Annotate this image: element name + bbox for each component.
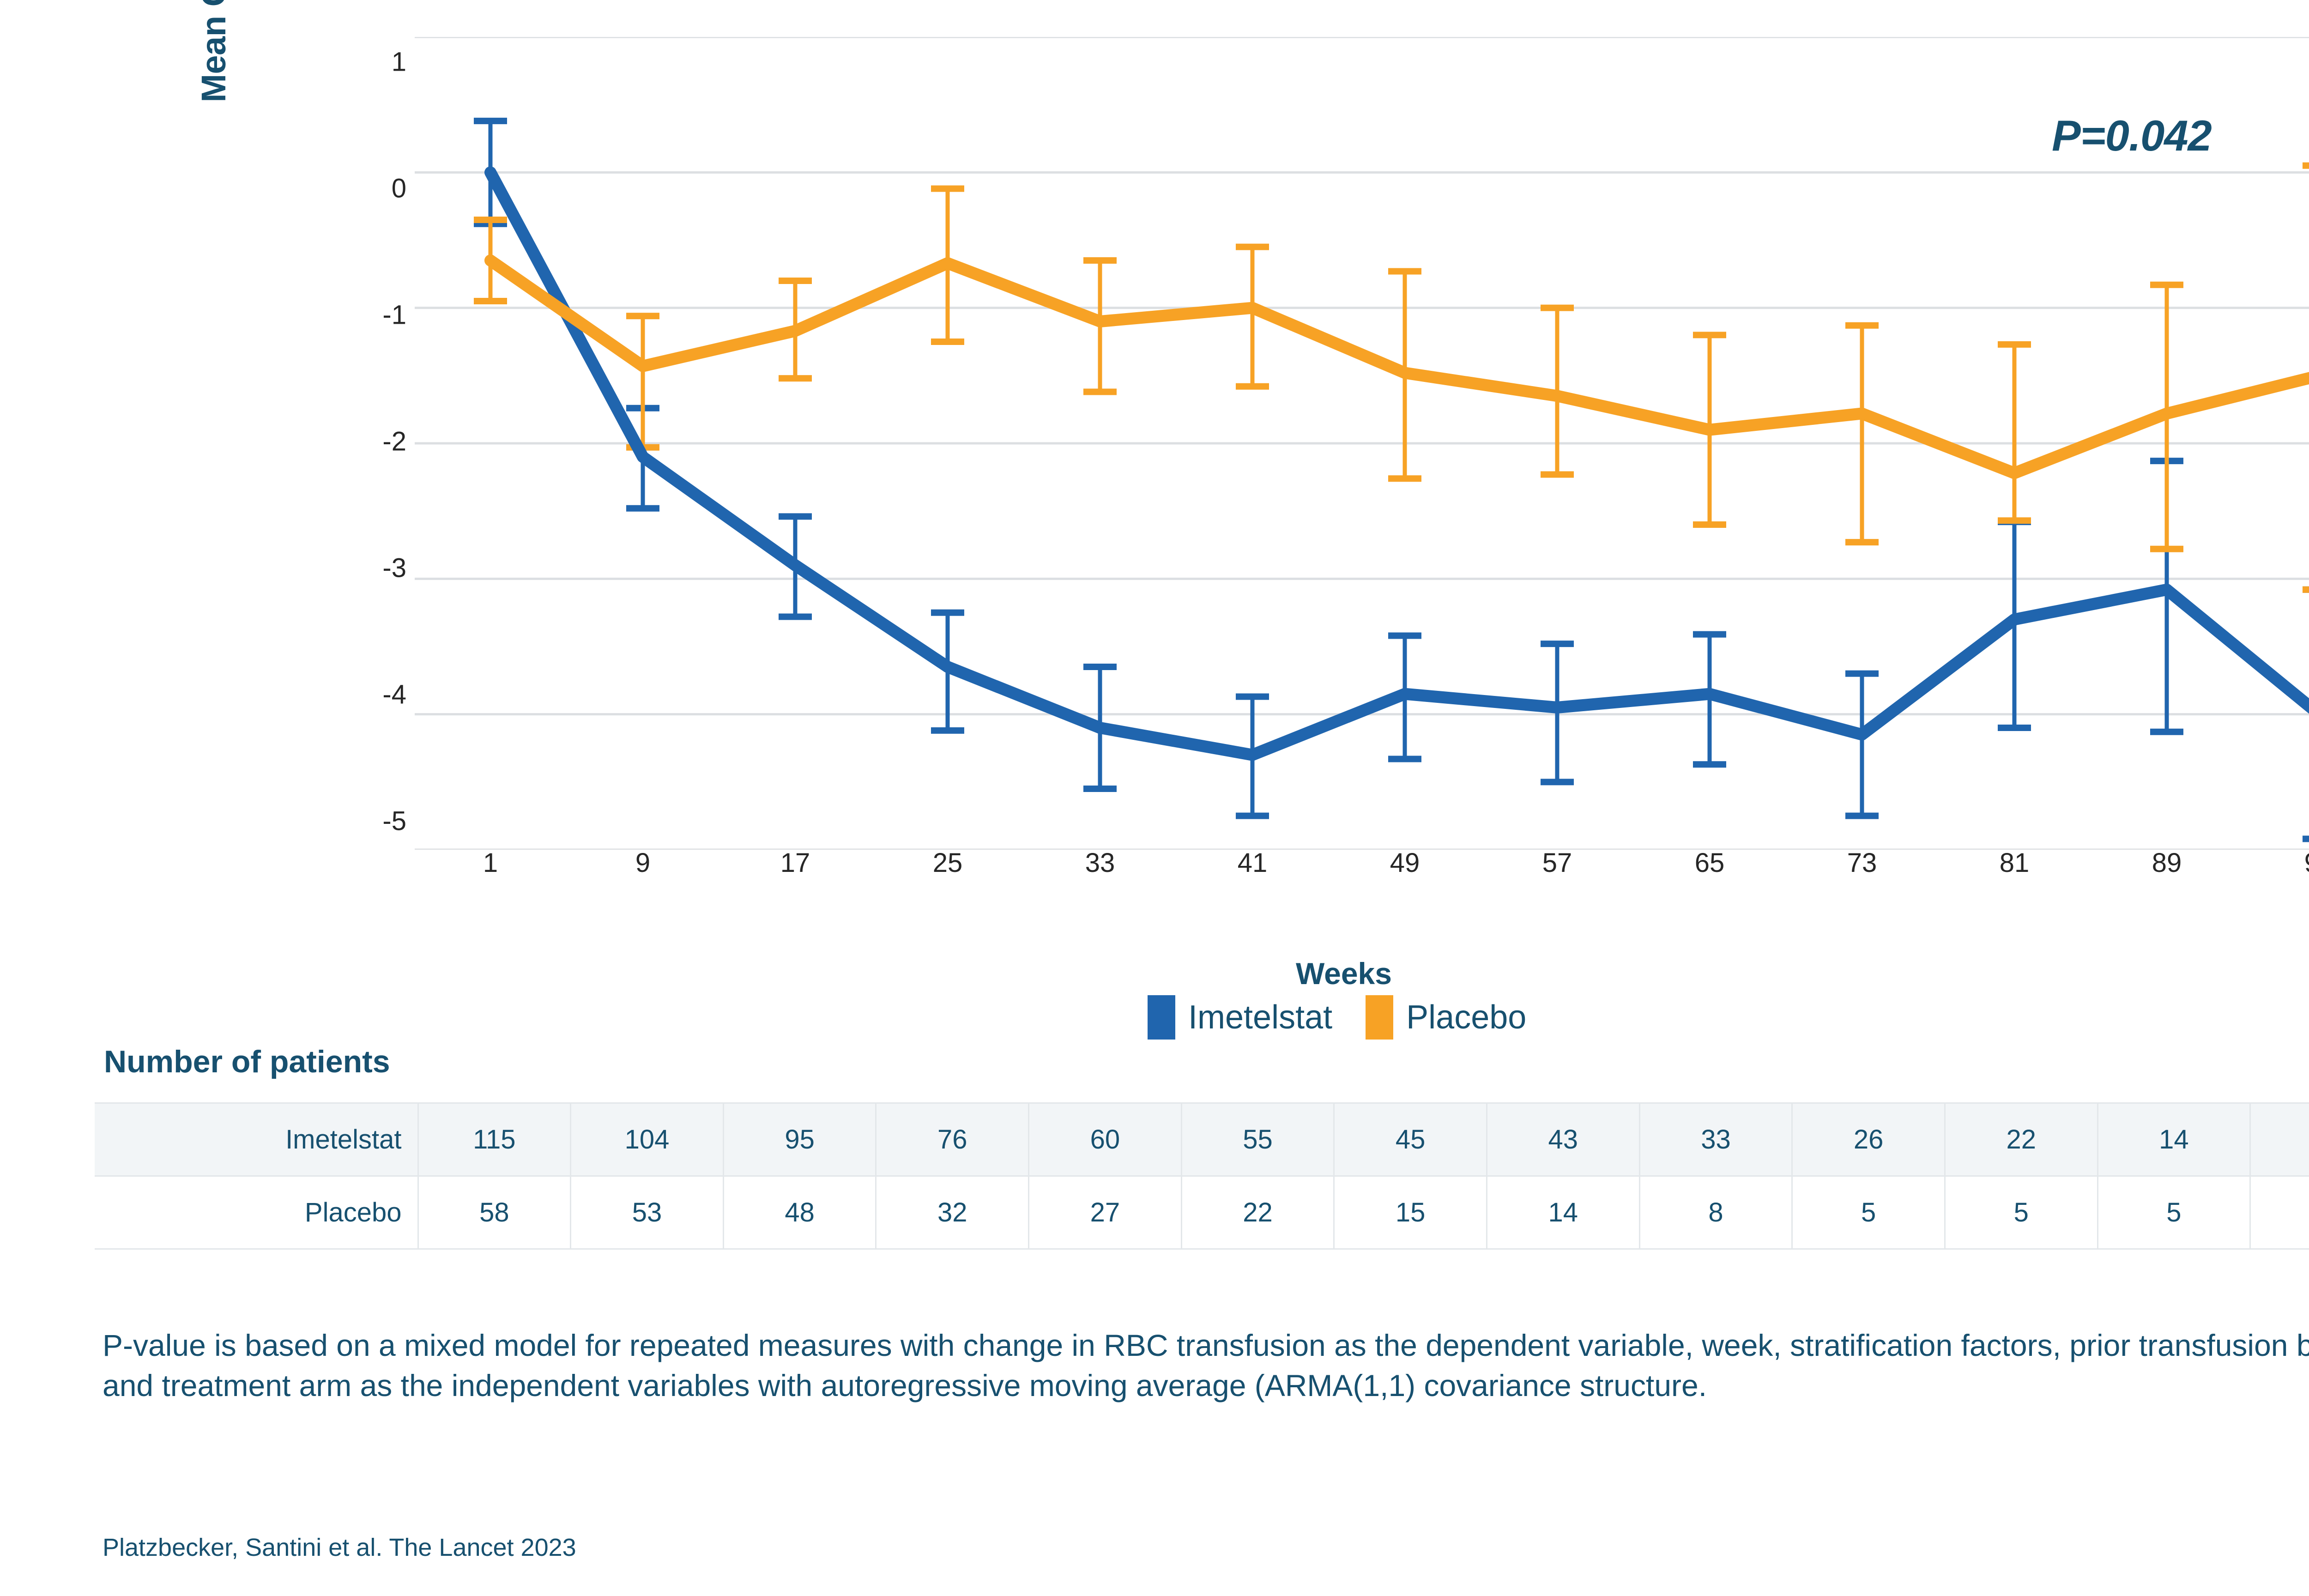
x-tick-label: 25 [933, 847, 963, 878]
legend-swatch-icon [1148, 995, 1175, 1040]
x-tick-label: 97 [2304, 847, 2309, 878]
patient-table-title: Number of patients [104, 1044, 390, 1080]
figure-root: Mean Change in RBC Transfusion (units; +… [0, 0, 2309, 1596]
x-tick-label: 65 [1695, 847, 1725, 878]
table-cell: 27 [1029, 1176, 1182, 1249]
table-cell: 4 [2250, 1176, 2309, 1249]
table-cell: 48 [723, 1176, 876, 1249]
table-cell: 22 [1181, 1176, 1334, 1249]
table-cell: 55 [1181, 1103, 1334, 1176]
y-tick-label: 0 [337, 173, 406, 204]
table-cell: 104 [571, 1103, 724, 1176]
x-tick-label: 33 [1085, 847, 1115, 878]
x-tick-label: 73 [1847, 847, 1877, 878]
y-tick-label: -4 [337, 679, 406, 710]
table-row: Placebo585348322722151485554 [95, 1176, 2309, 1249]
table-cell: 33 [1639, 1103, 1792, 1176]
table-cell: 58 [418, 1176, 571, 1249]
table-row-label: Placebo [95, 1176, 418, 1249]
table-cell: 5 [2097, 1176, 2250, 1249]
table-cell: 14 [2097, 1103, 2250, 1176]
table-cell: 32 [876, 1176, 1029, 1249]
patient-count-table: Imetelstat1151049576605545433326221410Pl… [95, 1102, 2309, 1250]
table-cell: 10 [2250, 1103, 2309, 1176]
x-tick-label: 17 [780, 847, 810, 878]
y-axis-title: Mean Change in RBC Transfusion (units; +… [199, 0, 254, 139]
footnote-text: P-value is based on a mixed model for re… [103, 1325, 2309, 1406]
y-tick-label: 1 [337, 47, 406, 78]
x-axis-title: Weeks [1247, 956, 1441, 991]
table-cell: 45 [1334, 1103, 1487, 1176]
x-tick-label: 41 [1238, 847, 1268, 878]
table-cell: 8 [1639, 1176, 1792, 1249]
table-row-label: Imetelstat [95, 1103, 418, 1176]
legend-label: Placebo [1406, 998, 1526, 1036]
legend-label: Imetelstat [1188, 998, 1332, 1036]
line-chart: Mean Change in RBC Transfusion (units; +… [0, 0, 2309, 924]
x-tick-label: 49 [1390, 847, 1420, 878]
table-row: Imetelstat1151049576605545433326221410 [95, 1103, 2309, 1176]
table-cell: 22 [1945, 1103, 2097, 1176]
y-tick-label: -5 [337, 806, 406, 837]
table-cell: 14 [1487, 1176, 1639, 1249]
citation-text: Platzbecker, Santini et al. The Lancet 2… [103, 1533, 576, 1562]
table-cell: 5 [1792, 1176, 1945, 1249]
x-tick-label: 57 [1542, 847, 1572, 878]
table-cell: 60 [1029, 1103, 1182, 1176]
x-tick-label: 89 [2152, 847, 2182, 878]
legend-item-imetelstat[interactable]: Imetelstat [1148, 995, 1332, 1040]
table-cell: 95 [723, 1103, 876, 1176]
legend-item-placebo[interactable]: Placebo [1366, 995, 1526, 1040]
y-tick-label: -1 [337, 300, 406, 331]
table-cell: 15 [1334, 1176, 1487, 1249]
legend-swatch-icon [1366, 995, 1393, 1040]
table-cell: 43 [1487, 1103, 1639, 1176]
table-cell: 53 [571, 1176, 724, 1249]
y-tick-label: -2 [337, 426, 406, 457]
chart-legend: Imetelstat Placebo [1148, 995, 1526, 1040]
x-tick-label: 9 [635, 847, 650, 878]
table-cell: 115 [418, 1103, 571, 1176]
x-tick-label: 81 [2000, 847, 2030, 878]
x-tick-label: 1 [483, 847, 498, 878]
plot-area [415, 37, 2309, 850]
y-tick-label: -3 [337, 553, 406, 584]
table-cell: 76 [876, 1103, 1029, 1176]
table-cell: 5 [1945, 1176, 2097, 1249]
y-axis-title-main: Mean Change in RBC Transfusion [194, 0, 233, 103]
table-cell: 26 [1792, 1103, 1945, 1176]
